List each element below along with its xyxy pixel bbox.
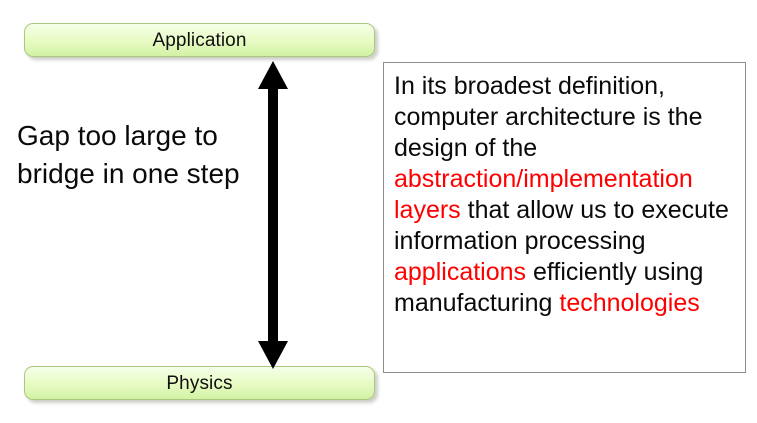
definition-highlight-3: applications xyxy=(394,258,526,286)
slide-canvas: Application Physics Gap too large to bri… xyxy=(0,0,757,423)
gap-caption-line-1: Gap too large to xyxy=(17,117,257,155)
definition-textbox[interactable]: In its broadest definition, computer arc… xyxy=(383,62,746,373)
gap-caption-line-2: bridge in one step xyxy=(17,155,257,193)
layer-box-application[interactable]: Application xyxy=(24,23,375,57)
definition-text: In its broadest definition, computer arc… xyxy=(394,71,741,319)
layer-box-application-label: Application xyxy=(152,31,246,50)
layer-box-physics[interactable]: Physics xyxy=(24,366,375,400)
definition-segment-0: In its broadest definition, computer arc… xyxy=(394,72,702,162)
definition-highlight-5: technologies xyxy=(559,289,699,317)
double-headed-vertical-arrow-icon xyxy=(257,60,289,370)
gap-caption: Gap too large to bridge in one step xyxy=(17,117,257,193)
layer-box-physics-label: Physics xyxy=(166,374,232,393)
arrow-shape xyxy=(258,61,288,369)
arrow-svg xyxy=(257,60,289,370)
